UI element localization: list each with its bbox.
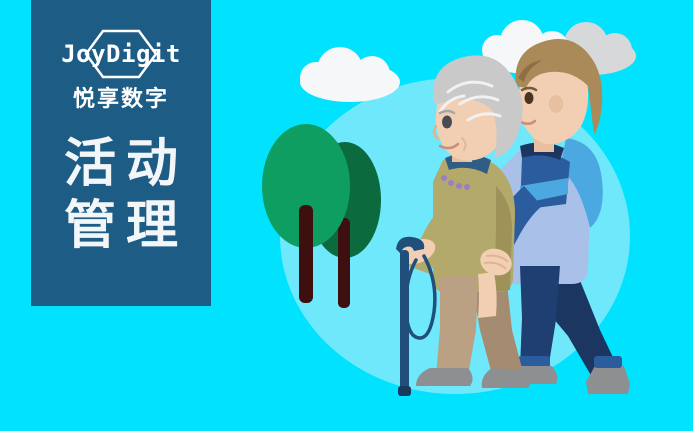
- brand-panel: JoyDigit 悦享数字 活动 管理: [31, 0, 211, 306]
- elder-forearm-skin: [478, 272, 497, 318]
- cloud-left: [300, 47, 400, 102]
- logo: JoyDigit: [55, 28, 187, 80]
- elder-back-shoe: [482, 368, 531, 388]
- page-title-line-2: 管理: [54, 198, 188, 254]
- logo-wordmark: JoyDigit: [61, 42, 181, 66]
- company-name-cn: 悦享数字: [73, 88, 169, 110]
- page-title: 活动 管理: [54, 136, 188, 254]
- page-title-line-1: 活动: [54, 136, 188, 192]
- poster-canvas: JoyDigit 悦享数字 活动 管理: [0, 0, 693, 431]
